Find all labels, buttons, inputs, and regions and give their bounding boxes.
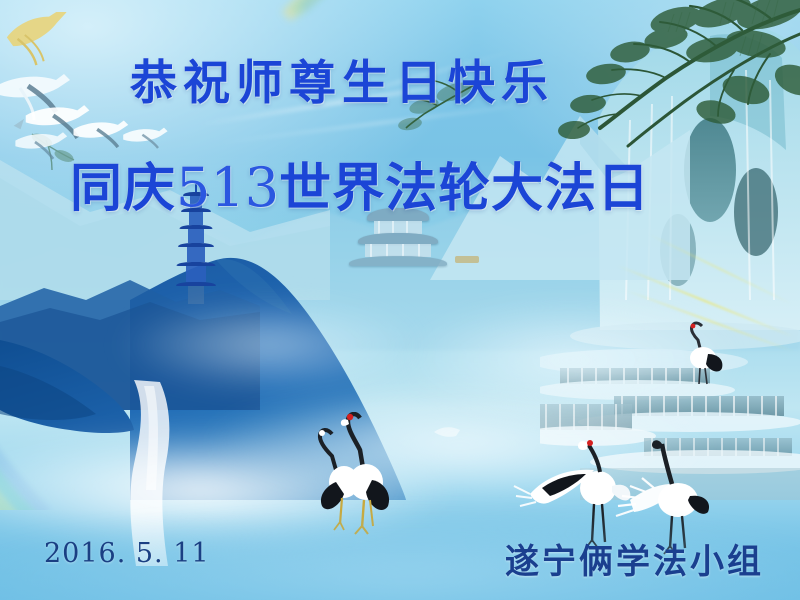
pavilion-roof-middle (358, 233, 438, 244)
headline-line-1: 恭祝师尊生日快乐 (130, 44, 554, 113)
headline-line-2: 同庆513世界法轮大法日 (70, 146, 650, 221)
pagoda-level (186, 266, 206, 282)
greeting-card-canvas: 恭祝师尊生日快乐 同庆513世界法轮大法日 2016. 5. 11 遂宁俩学法小… (0, 0, 800, 600)
pavilion-column (370, 244, 372, 257)
pavilion-column (378, 221, 380, 234)
headline-date-number: 513 (176, 156, 279, 219)
headline-line2-prefix: 同庆 (70, 159, 176, 219)
pavilion-column (406, 221, 408, 234)
headline-line2-suffix: 世界法轮大法日 (279, 159, 650, 219)
pagoda-level (188, 229, 204, 243)
pavilion-roof-base (349, 256, 447, 266)
temple-annex (455, 256, 479, 263)
date-label: 2016. 5. 11 (44, 538, 210, 569)
signature-label: 遂宁俩学法小组 (505, 534, 764, 583)
pagoda-base (188, 286, 204, 304)
pavilion-column (418, 244, 420, 257)
pagoda-level (187, 247, 205, 262)
